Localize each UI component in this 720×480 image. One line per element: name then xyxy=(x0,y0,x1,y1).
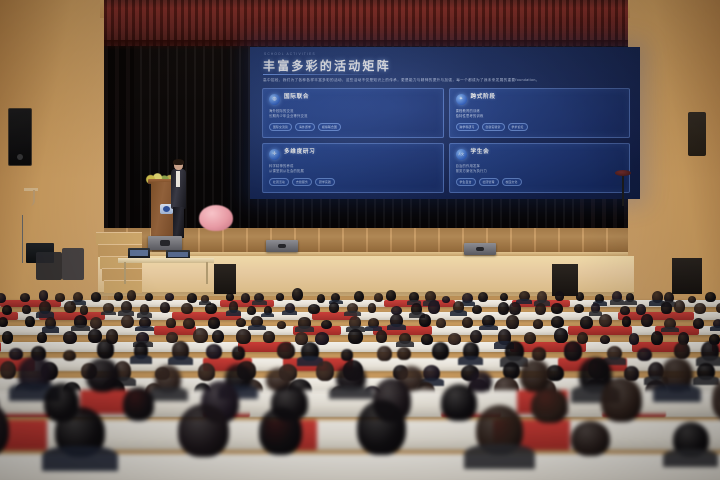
stand-pole xyxy=(22,215,23,263)
audience-head xyxy=(63,331,77,345)
audience-head xyxy=(55,293,64,302)
card-header: ◍ 国际联合 xyxy=(269,94,437,105)
audience-head xyxy=(368,303,377,312)
audience-head xyxy=(374,293,383,302)
globe-icon: ◍ xyxy=(269,94,280,105)
audience-shoulders xyxy=(450,310,467,316)
slide-card: ✛ 多维度研习 科学精神的养成 从课堂到从社会的拓展 社团活动 志愿服务 研学实… xyxy=(262,143,444,193)
audience-shoulders xyxy=(130,355,152,363)
card-body: 课程教育的训练 独特性思考的训练 xyxy=(456,109,624,119)
audience-shoulders xyxy=(168,356,193,365)
audience-head xyxy=(386,290,396,300)
audience-head xyxy=(716,303,720,313)
audience-head xyxy=(531,388,567,423)
audience-shoulders xyxy=(387,324,406,330)
compass-icon: ✛ xyxy=(269,149,280,160)
audience-shoulders xyxy=(464,444,535,469)
audience-head xyxy=(181,303,193,315)
audience-head xyxy=(63,350,76,362)
presenter-hair xyxy=(173,159,184,165)
audience-head xyxy=(620,306,629,315)
audience-head xyxy=(160,302,170,313)
card-line: 独特性思考的训练 xyxy=(456,114,624,119)
card-tag: 海外游学 xyxy=(295,123,315,131)
audience-head xyxy=(80,305,89,315)
audience-head xyxy=(37,332,48,343)
card-line: 从课堂到从社会的拓展 xyxy=(269,169,437,174)
audience-head xyxy=(506,315,518,329)
audience-head xyxy=(688,296,696,303)
card-tags: 国际交流营 海外游学 模拟联合国 xyxy=(269,123,437,131)
rocket-icon: ✦ xyxy=(456,94,467,105)
audience-head xyxy=(601,377,642,422)
audience-head xyxy=(97,339,114,358)
card-body: 自治的作用发挥 服务方案化为执行力 xyxy=(456,164,624,174)
audience-head xyxy=(145,293,153,301)
audience-shoulders xyxy=(226,310,241,316)
audience-head xyxy=(241,293,251,303)
audience-head xyxy=(247,306,257,315)
audience-head xyxy=(694,303,706,314)
audience-head xyxy=(121,315,133,329)
audience-head xyxy=(674,300,685,313)
audience-head xyxy=(205,303,217,314)
card-body: 科学精神的养成 从课堂到从社会的拓展 xyxy=(269,164,437,174)
audience-head xyxy=(20,293,30,302)
stage-monitor-center xyxy=(266,240,298,252)
audience-head xyxy=(308,304,320,314)
slide-card: 人文 学生会 自治的作用发挥 服务方案化为执行力 学生自治 社团管理 校园文化 xyxy=(449,143,631,193)
audience-head xyxy=(208,317,220,328)
audience-head xyxy=(2,331,14,344)
audience-head xyxy=(377,346,391,361)
chair xyxy=(62,248,84,280)
audience-head xyxy=(236,329,251,344)
card-tag: 社团活动 xyxy=(269,178,289,186)
audience-head xyxy=(64,301,76,313)
audience-head xyxy=(478,292,488,302)
audience-head xyxy=(705,292,715,302)
audience-head xyxy=(564,341,582,361)
card-title: 跨式阶段 xyxy=(471,94,496,101)
audience-head xyxy=(0,317,8,327)
audience-head xyxy=(127,290,136,301)
audience-head xyxy=(421,334,432,345)
audience-shoulders xyxy=(624,300,637,304)
audience-head xyxy=(321,320,332,330)
audience-head xyxy=(469,371,493,392)
audience-head xyxy=(263,331,275,342)
slide-card-grid: ◍ 国际联合 海外校际的交流 长期青少年企业等外交流 国际交流营 海外游学 模拟… xyxy=(262,88,630,193)
audience-head xyxy=(554,328,568,343)
audience-shoulders xyxy=(71,325,90,331)
audience-head xyxy=(2,305,12,315)
audience-head xyxy=(462,317,473,328)
stage-monitor-right xyxy=(464,243,496,255)
wall-mounted-speaker xyxy=(8,108,32,166)
audience-head xyxy=(428,300,440,314)
audience-head xyxy=(500,293,508,301)
audience-head xyxy=(277,321,286,329)
audience-shoulders xyxy=(282,310,297,315)
audience-head xyxy=(315,332,329,345)
audience-head xyxy=(535,303,546,315)
audience-shoulders xyxy=(710,326,720,331)
slide-subtitle: 高中招段，我们为了各种各样丰富多彩的活动，这些活动不仅是知识上的传承，更是能力与… xyxy=(263,78,628,83)
audience-head xyxy=(316,361,334,381)
audience-shoulders xyxy=(458,356,483,365)
title-underline xyxy=(263,74,383,75)
slide-card: ✦ 跨式阶段 课程教育的训练 独特性思考的训练 跨学科研习 创新实验室 学术论坛 xyxy=(449,88,631,138)
audience-shoulders xyxy=(661,327,679,333)
seated-audience xyxy=(0,286,720,480)
audience-head xyxy=(551,303,563,314)
audience-shoulders xyxy=(653,384,701,402)
wall-hook-curve xyxy=(30,190,35,206)
audience-head xyxy=(91,292,101,301)
audience-head xyxy=(165,293,174,301)
audience-head xyxy=(432,342,449,361)
auditorium-photo: SCHOOL ACTIVITIES 丰富多彩的活动矩阵 高中招段，我们为了各种各… xyxy=(0,0,720,480)
card-title: 学生会 xyxy=(471,149,490,156)
audience-head xyxy=(90,317,102,329)
card-header: 人文 学生会 xyxy=(456,149,624,160)
audience-head xyxy=(317,294,325,303)
audience-head xyxy=(441,384,477,421)
card-tags: 社团活动 志愿服务 研学实践 xyxy=(269,178,437,186)
card-line: 长期青少年企业等外交流 xyxy=(269,114,437,119)
audience-head xyxy=(277,342,295,359)
presenter-legs xyxy=(173,207,184,238)
card-header: ✦ 跨式阶段 xyxy=(456,94,624,105)
card-tag: 研学实践 xyxy=(315,178,335,186)
card-tag: 模拟联合国 xyxy=(318,123,341,131)
stage-decor-stand xyxy=(622,176,624,206)
audience-shoulders xyxy=(261,313,274,317)
audience-head xyxy=(599,314,612,327)
audience-shoulders xyxy=(42,326,58,332)
stage-steps xyxy=(96,232,142,294)
audience-head xyxy=(622,316,631,326)
audience-shoulders xyxy=(663,449,718,467)
card-tags: 跨学科研习 创新实验室 学术论坛 xyxy=(456,123,624,131)
card-tag: 跨学科研习 xyxy=(456,123,479,131)
audience-head xyxy=(357,400,406,455)
audience-head xyxy=(376,330,388,343)
audience-head xyxy=(22,305,32,314)
audience-head xyxy=(341,349,353,360)
audience-shoulders xyxy=(101,311,116,316)
audience-head xyxy=(193,328,208,343)
audience-head xyxy=(276,293,284,301)
pink-decoration xyxy=(199,205,233,231)
slide-kicker: SCHOOL ACTIVITIES xyxy=(264,52,316,56)
audience-head xyxy=(123,387,154,421)
audience-head xyxy=(661,302,673,313)
card-tag: 志愿服务 xyxy=(292,178,312,186)
audience-head xyxy=(206,344,222,359)
audience-head xyxy=(236,318,246,327)
audience-head xyxy=(498,302,509,314)
audience-head xyxy=(551,316,564,328)
presenter-at-podium xyxy=(170,160,188,238)
audience-shoulders xyxy=(42,446,118,471)
audience-shoulders xyxy=(252,300,267,305)
card-tags: 学生自治 社团管理 校园文化 xyxy=(456,178,624,186)
audience-head xyxy=(571,421,610,456)
audience-head xyxy=(442,296,450,303)
audience-head xyxy=(533,319,543,328)
audience-head xyxy=(397,347,411,360)
audience-head xyxy=(25,316,34,327)
audience-head xyxy=(39,290,49,300)
audience-head xyxy=(600,335,610,344)
audience-shoulders xyxy=(479,325,498,331)
card-tag: 学术论坛 xyxy=(508,123,528,131)
badge-icon: 人文 xyxy=(456,149,467,160)
audience-head xyxy=(472,305,482,314)
card-tag: 创新实验室 xyxy=(482,123,505,131)
card-line: 服务方案化为执行力 xyxy=(456,169,624,174)
audience-head xyxy=(509,302,521,314)
audience-head xyxy=(348,329,363,344)
slide-title: 丰富多彩的活动矩阵 xyxy=(263,57,391,74)
stage-monitor-left xyxy=(148,236,182,250)
audience-head xyxy=(86,358,119,391)
desk-leg xyxy=(124,262,126,284)
audience-head xyxy=(9,348,22,360)
audience-head xyxy=(419,314,431,326)
audience-head xyxy=(292,288,303,301)
audience-head xyxy=(212,330,224,343)
card-tag: 社团管理 xyxy=(479,178,499,186)
audience-shoulders xyxy=(329,386,373,399)
audience-head xyxy=(329,302,340,312)
av-control-desk xyxy=(118,258,214,263)
audience-shoulders xyxy=(295,326,314,332)
audience-head xyxy=(520,359,551,392)
chair xyxy=(36,252,62,280)
audience-head xyxy=(555,291,564,300)
presenter-shirt xyxy=(176,171,180,187)
wall-mounted-speaker-right xyxy=(688,112,706,156)
slide-card: ◍ 国际联合 海外校际的交流 长期青少年企业等外交流 国际交流营 海外游学 模拟… xyxy=(262,88,444,138)
card-body: 海外校际的交流 长期青少年企业等外交流 xyxy=(269,109,437,119)
card-header: ✛ 多维度研习 xyxy=(269,149,437,160)
audience-head xyxy=(574,304,585,313)
audience-head xyxy=(259,407,302,455)
audience-head xyxy=(354,291,364,303)
audience-shoulders xyxy=(610,299,625,304)
audience-head xyxy=(576,292,584,301)
card-tag: 校园文化 xyxy=(502,178,522,186)
card-title: 国际联合 xyxy=(284,94,309,101)
card-tag: 学生自治 xyxy=(456,178,476,186)
stage-decor-bowl xyxy=(615,170,631,176)
audience-head xyxy=(580,316,593,329)
audience-head xyxy=(178,404,229,457)
audience-head xyxy=(436,318,445,328)
desk-leg xyxy=(206,262,208,284)
projection-screen: SCHOOL ACTIVITIES 丰富多彩的活动矩阵 高中招段，我们为了各种各… xyxy=(250,47,640,199)
audience-shoulders xyxy=(135,326,154,332)
audience-shoulders xyxy=(248,325,265,330)
audience-head xyxy=(198,363,216,381)
audience-head xyxy=(637,348,652,361)
audience-head xyxy=(232,346,245,360)
audience-head xyxy=(183,318,194,329)
audience-head xyxy=(641,314,652,327)
audience-head xyxy=(470,330,482,344)
audience-head xyxy=(0,361,16,379)
audience-head xyxy=(187,293,197,303)
audience-head xyxy=(166,318,175,328)
card-tag: 国际交流营 xyxy=(269,123,292,131)
audience-front-rows xyxy=(0,384,720,480)
card-title: 多维度研习 xyxy=(284,149,315,156)
audience-head xyxy=(226,293,234,300)
audience-shoulders xyxy=(149,387,188,401)
